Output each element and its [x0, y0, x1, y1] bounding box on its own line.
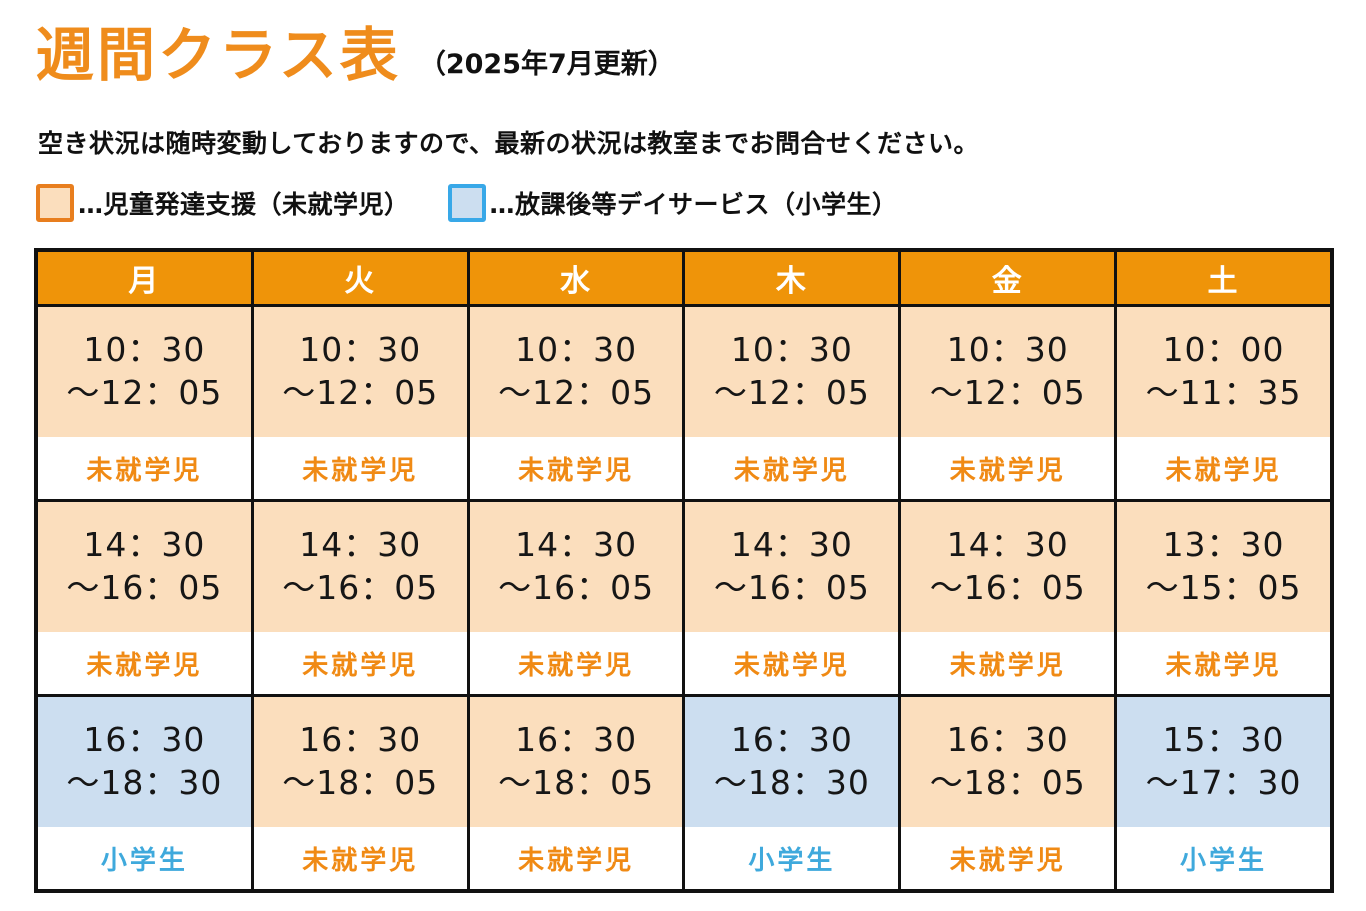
slot-end: ～18：05 [498, 762, 654, 805]
slot-label: 未就学児 [470, 827, 683, 889]
schedule-table: 月 火 水 木 金 土 10：30 ～12：05 未就学児 10：30 ～12：… [34, 248, 1334, 893]
slot-cell: 10：30 ～12：05 未就学児 [467, 307, 683, 499]
slot-time: 16：30 ～18：30 [38, 697, 251, 827]
slot-start: 14：30 [83, 524, 205, 567]
table-header-row: 月 火 水 木 金 土 [38, 252, 1330, 304]
slot-time: 14：30 ～16：05 [470, 502, 683, 632]
slot-label: 未就学児 [254, 827, 467, 889]
slot-label: 未就学児 [901, 827, 1114, 889]
slot-start: 15：30 [1163, 719, 1285, 762]
slot-start: 10：00 [1163, 329, 1285, 372]
slot-cell: 10：30 ～12：05 未就学児 [38, 307, 251, 499]
slot-cell: 16：30 ～18：05 未就学児 [251, 697, 467, 889]
slot-time: 16：30 ～18：05 [254, 697, 467, 827]
slot-start: 16：30 [515, 719, 637, 762]
orange-swatch-icon [36, 184, 74, 222]
column-header-mon: 月 [38, 252, 251, 304]
slot-label: 未就学児 [254, 437, 467, 499]
slot-label: 未就学児 [38, 632, 251, 694]
update-note: （2025年7月更新） [419, 51, 675, 84]
slot-end: ～11：35 [1146, 372, 1302, 415]
slot-start: 16：30 [947, 719, 1069, 762]
slot-time: 10：30 ～12：05 [254, 307, 467, 437]
slot-end: ～12：05 [498, 372, 654, 415]
slot-label: 小学生 [1117, 827, 1330, 889]
slot-cell: 10：00 ～11：35 未就学児 [1114, 307, 1330, 499]
slot-end: ～12：05 [66, 372, 222, 415]
slot-cell: 10：30 ～12：05 未就学児 [251, 307, 467, 499]
slot-end: ～17：30 [1146, 762, 1302, 805]
legend: …児童発達支援（未就学児） …放課後等デイサービス（小学生） [36, 184, 898, 222]
slot-cell: 16：30 ～18：05 未就学児 [467, 697, 683, 889]
title-block: 週間クラス表 （2025年7月更新） [36, 26, 675, 84]
slot-cell: 14：30 ～16：05 未就学児 [251, 502, 467, 694]
slot-end: ～16：05 [282, 567, 438, 610]
slot-start: 14：30 [299, 524, 421, 567]
slot-start: 10：30 [299, 329, 421, 372]
blue-swatch-icon [448, 184, 486, 222]
slot-time: 14：30 ～16：05 [254, 502, 467, 632]
legend-item-afterschool: …放課後等デイサービス（小学生） [448, 184, 898, 222]
legend-item-preschool: …児童発達支援（未就学児） [36, 184, 410, 222]
table-row: 10：30 ～12：05 未就学児 10：30 ～12：05 未就学児 10：3… [38, 304, 1330, 499]
weekly-class-schedule-page: 週間クラス表 （2025年7月更新） 空き状況は随時変動しておりますので、最新の… [0, 0, 1366, 911]
slot-end: ～18：05 [930, 762, 1086, 805]
slot-time: 10：30 ～12：05 [901, 307, 1114, 437]
slot-label: 未就学児 [470, 632, 683, 694]
slot-time: 10：00 ～11：35 [1117, 307, 1330, 437]
slot-cell: 16：30 ～18：30 小学生 [38, 697, 251, 889]
slot-cell: 10：30 ～12：05 未就学児 [682, 307, 898, 499]
slot-label: 未就学児 [1117, 437, 1330, 499]
slot-end: ～12：05 [714, 372, 870, 415]
slot-cell: 14：30 ～16：05 未就学児 [38, 502, 251, 694]
slot-label: 未就学児 [254, 632, 467, 694]
slot-start: 14：30 [947, 524, 1069, 567]
slot-time: 14：30 ～16：05 [901, 502, 1114, 632]
legend-label-afterschool: …放課後等デイサービス（小学生） [490, 185, 898, 221]
slot-start: 16：30 [299, 719, 421, 762]
slot-end: ～18：30 [714, 762, 870, 805]
slot-start: 13：30 [1163, 524, 1285, 567]
slot-label: 未就学児 [1117, 632, 1330, 694]
slot-time: 10：30 ～12：05 [685, 307, 898, 437]
slot-cell: 13：30 ～15：05 未就学児 [1114, 502, 1330, 694]
slot-label: 未就学児 [38, 437, 251, 499]
column-header-tue: 火 [251, 252, 467, 304]
slot-time: 13：30 ～15：05 [1117, 502, 1330, 632]
slot-label: 未就学児 [901, 632, 1114, 694]
slot-end: ～12：05 [282, 372, 438, 415]
slot-time: 16：30 ～18：30 [685, 697, 898, 827]
column-header-thu: 木 [682, 252, 898, 304]
slot-end: ～18：30 [66, 762, 222, 805]
slot-time: 14：30 ～16：05 [38, 502, 251, 632]
column-header-wed: 水 [467, 252, 683, 304]
table-row: 16：30 ～18：30 小学生 16：30 ～18：05 未就学児 16：30… [38, 694, 1330, 889]
slot-time: 14：30 ～16：05 [685, 502, 898, 632]
slot-end: ～16：05 [930, 567, 1086, 610]
slot-end: ～18：05 [282, 762, 438, 805]
slot-label: 小学生 [38, 827, 251, 889]
slot-cell: 15：30 ～17：30 小学生 [1114, 697, 1330, 889]
slot-start: 10：30 [731, 329, 853, 372]
slot-cell: 10：30 ～12：05 未就学児 [898, 307, 1114, 499]
slot-time: 16：30 ～18：05 [470, 697, 683, 827]
slot-cell: 14：30 ～16：05 未就学児 [682, 502, 898, 694]
legend-label-preschool: …児童発達支援（未就学児） [78, 185, 410, 221]
slot-start: 10：30 [947, 329, 1069, 372]
slot-start: 10：30 [515, 329, 637, 372]
slot-label: 未就学児 [470, 437, 683, 499]
slot-end: ～16：05 [66, 567, 222, 610]
column-header-sat: 土 [1114, 252, 1330, 304]
slot-end: ～16：05 [714, 567, 870, 610]
slot-end: ～12：05 [930, 372, 1086, 415]
table-row: 14：30 ～16：05 未就学児 14：30 ～16：05 未就学児 14：3… [38, 499, 1330, 694]
slot-time: 16：30 ～18：05 [901, 697, 1114, 827]
slot-label: 小学生 [685, 827, 898, 889]
slot-time: 15：30 ～17：30 [1117, 697, 1330, 827]
subtitle-text: 空き状況は随時変動しておりますので、最新の状況は教室までお問合せください。 [38, 124, 979, 160]
page-title: 週間クラス表 [36, 26, 401, 84]
slot-time: 10：30 ～12：05 [38, 307, 251, 437]
slot-cell: 14：30 ～16：05 未就学児 [467, 502, 683, 694]
slot-cell: 16：30 ～18：30 小学生 [682, 697, 898, 889]
slot-end: ～15：05 [1146, 567, 1302, 610]
slot-label: 未就学児 [901, 437, 1114, 499]
slot-label: 未就学児 [685, 632, 898, 694]
slot-label: 未就学児 [685, 437, 898, 499]
slot-end: ～16：05 [498, 567, 654, 610]
slot-start: 14：30 [731, 524, 853, 567]
slot-start: 16：30 [83, 719, 205, 762]
slot-time: 10：30 ～12：05 [470, 307, 683, 437]
slot-cell: 14：30 ～16：05 未就学児 [898, 502, 1114, 694]
slot-start: 16：30 [731, 719, 853, 762]
slot-start: 14：30 [515, 524, 637, 567]
slot-start: 10：30 [83, 329, 205, 372]
slot-cell: 16：30 ～18：05 未就学児 [898, 697, 1114, 889]
column-header-fri: 金 [898, 252, 1114, 304]
